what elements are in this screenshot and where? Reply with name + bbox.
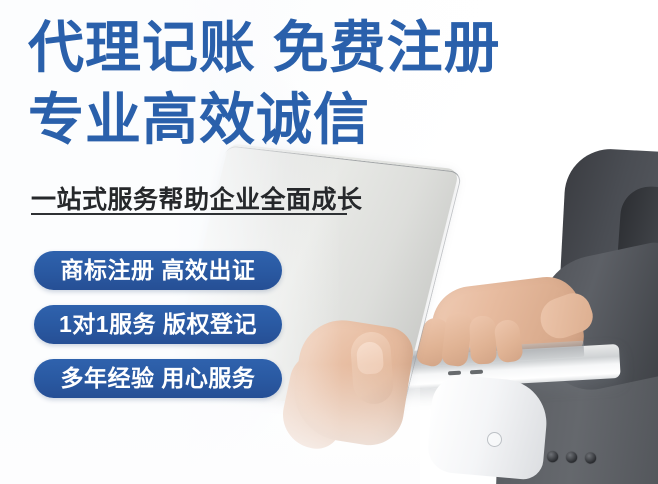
subtitle-divider	[31, 213, 347, 215]
headline-line-1: 代理记账 免费注册	[28, 20, 501, 76]
feature-badge-experience[interactable]: 多年经验 用心服务	[34, 359, 282, 398]
promo-poster: 代理记账 免费注册 专业高效诚信 一站式服务帮助企业全面成长 商标注册 高效出证…	[0, 0, 658, 484]
headline-line-2: 专业高效诚信	[28, 92, 370, 148]
feature-badge-list: 商标注册 高效出证 1对1服务 版权登记 多年经验 用心服务	[34, 251, 282, 398]
feature-badge-trademark[interactable]: 商标注册 高效出证	[34, 251, 282, 290]
subtitle: 一站式服务帮助企业全面成长	[31, 180, 363, 216]
feature-badge-service[interactable]: 1对1服务 版权登记	[34, 305, 282, 344]
text-layer: 代理记账 免费注册 专业高效诚信 一站式服务帮助企业全面成长 商标注册 高效出证…	[0, 0, 658, 484]
